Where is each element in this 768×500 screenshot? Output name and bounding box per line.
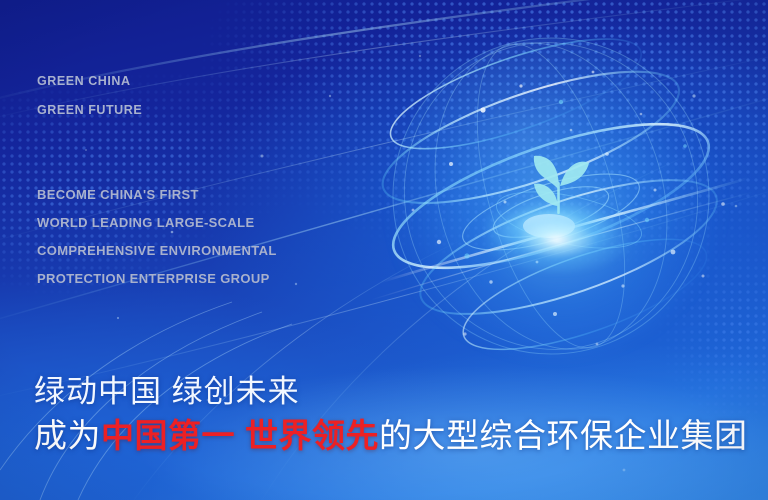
eyebrow-line-2: GREEN FUTURE [37, 103, 142, 117]
headline-prefix: 成为 [34, 417, 101, 454]
headline-suffix: 的大型综合环保企业集团 [379, 417, 748, 454]
globe-core-flare [482, 205, 632, 275]
headline-highlight-first: 中国第一 [101, 417, 235, 454]
eyebrow-line-1: GREEN CHINA [37, 74, 131, 88]
headline-highlight-leading: 世界领先 [245, 417, 379, 454]
subhead-line-3: COMPREHENSIVE ENVIRONMENTAL [37, 243, 277, 258]
subhead-line-2: WORLD LEADING LARGE-SCALE [37, 215, 254, 230]
hero-banner: GREEN CHINA GREEN FUTURE BECOME CHINA'S … [0, 0, 768, 500]
headline-line-1: 绿动中国 绿创未来 [34, 366, 300, 411]
sprout-seedling-icon [523, 144, 595, 222]
subhead-line-4: PROTECTION ENTERPRISE GROUP [37, 271, 270, 286]
wireframe-globe [355, 14, 755, 372]
globe-ambient-glow [390, 57, 720, 357]
globe-rings-svg [355, 14, 755, 372]
headline-line-2: 成为中国第一世界领先的大型综合环保企业集团 [34, 409, 748, 457]
subhead-line-1: BECOME CHINA'S FIRST [37, 187, 199, 202]
